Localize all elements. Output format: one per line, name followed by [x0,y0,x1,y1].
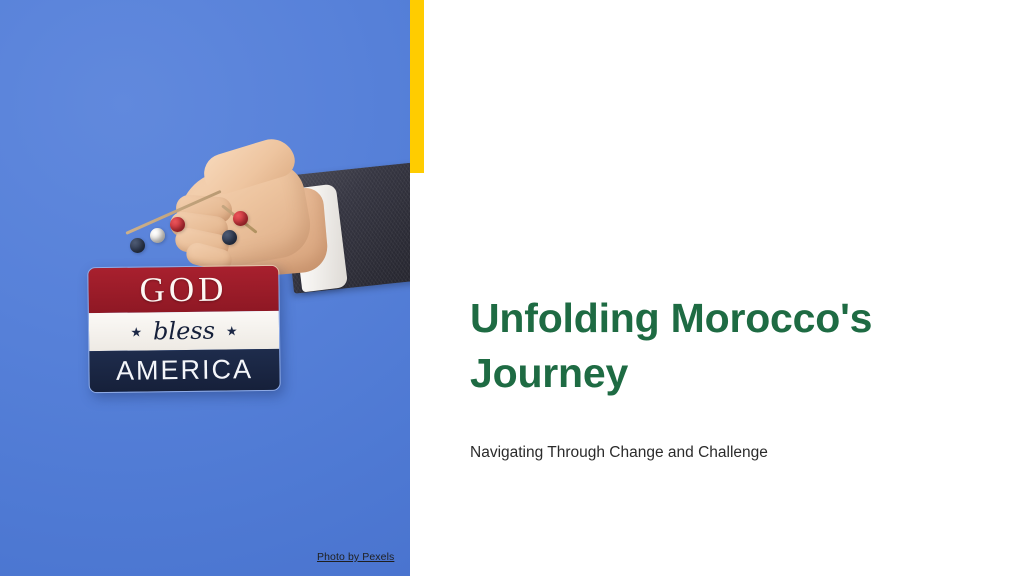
sign-band-navy: AMERICA [89,349,279,392]
bead-red [170,217,185,232]
slide: GOD ★ bless ★ AMERICA Photo by Pexels Un… [0,0,1024,576]
star-icon-right: ★ [226,324,238,337]
bead-navy [130,238,145,253]
star-icon-left: ★ [130,325,142,338]
sign-text-america: AMERICA [116,356,253,385]
accent-bar [410,0,424,173]
sign-band-white: ★ bless ★ [89,311,279,351]
photo-credit-link[interactable]: Photo by Pexels [317,551,394,563]
bead-string [126,198,236,256]
bead-navy-2 [222,230,237,245]
sign-text-god: GOD [139,271,227,307]
sign-band-red: GOD [88,266,279,313]
slide-title: Unfolding Morocco's Journey [470,291,900,400]
slide-subtitle: Navigating Through Change and Challenge [470,443,930,463]
bead-red-2 [233,211,248,226]
god-bless-america-sign: GOD ★ bless ★ AMERICA [87,265,281,393]
sign-text-bless: bless [153,319,215,344]
content-area: Unfolding Morocco's Journey Navigating T… [470,0,990,576]
bead-white [150,228,165,243]
photo-panel: GOD ★ bless ★ AMERICA Photo by Pexels [0,0,410,576]
sign-bless-row: ★ bless ★ [130,318,237,343]
